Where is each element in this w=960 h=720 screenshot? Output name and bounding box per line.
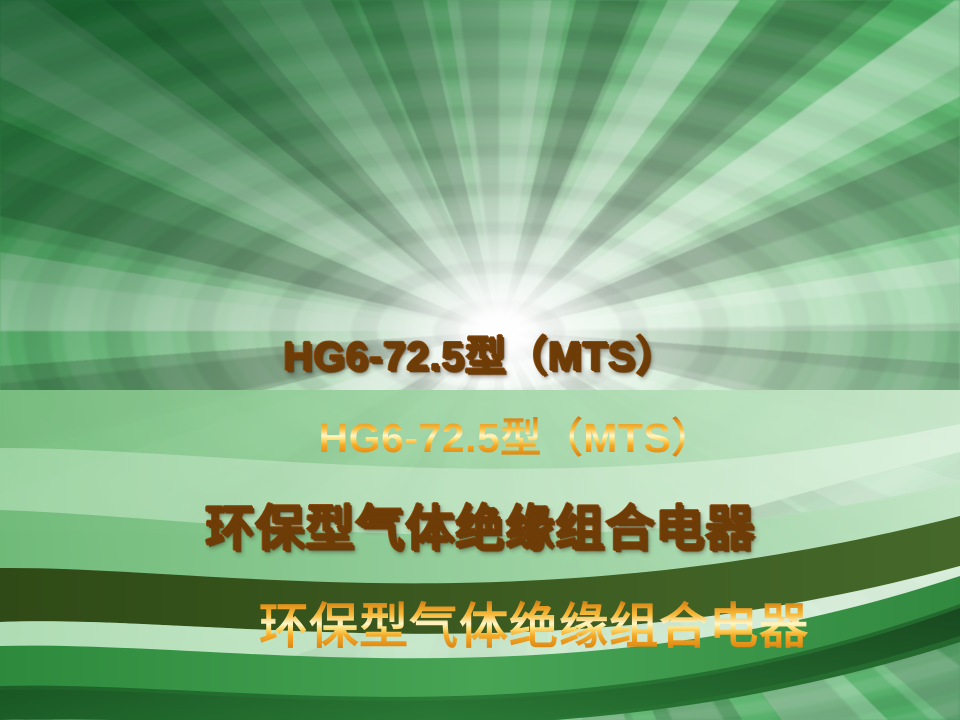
slide-title: HG6-72.5型（MTS） HG6-72.5型（MTS） 环保型气体绝缘组合电… <box>0 336 960 700</box>
title-line-2-shadow: 环保型气体绝缘组合电器 <box>0 504 960 553</box>
title-line-1-text: HG6-72.5型（MTS） <box>319 415 713 461</box>
title-line-1: HG6-72.5型（MTS） HG6-72.5型（MTS） <box>0 336 960 500</box>
title-line-2: 环保型气体绝缘组合电器 环保型气体绝缘组合电器 <box>0 504 960 700</box>
title-slide: HG6-72.5型（MTS） HG6-72.5型（MTS） 环保型气体绝缘组合电… <box>0 0 960 720</box>
title-line-1-shadow: HG6-72.5型（MTS） <box>0 336 960 377</box>
title-line-2-text: 环保型气体绝缘组合电器 <box>259 598 809 655</box>
